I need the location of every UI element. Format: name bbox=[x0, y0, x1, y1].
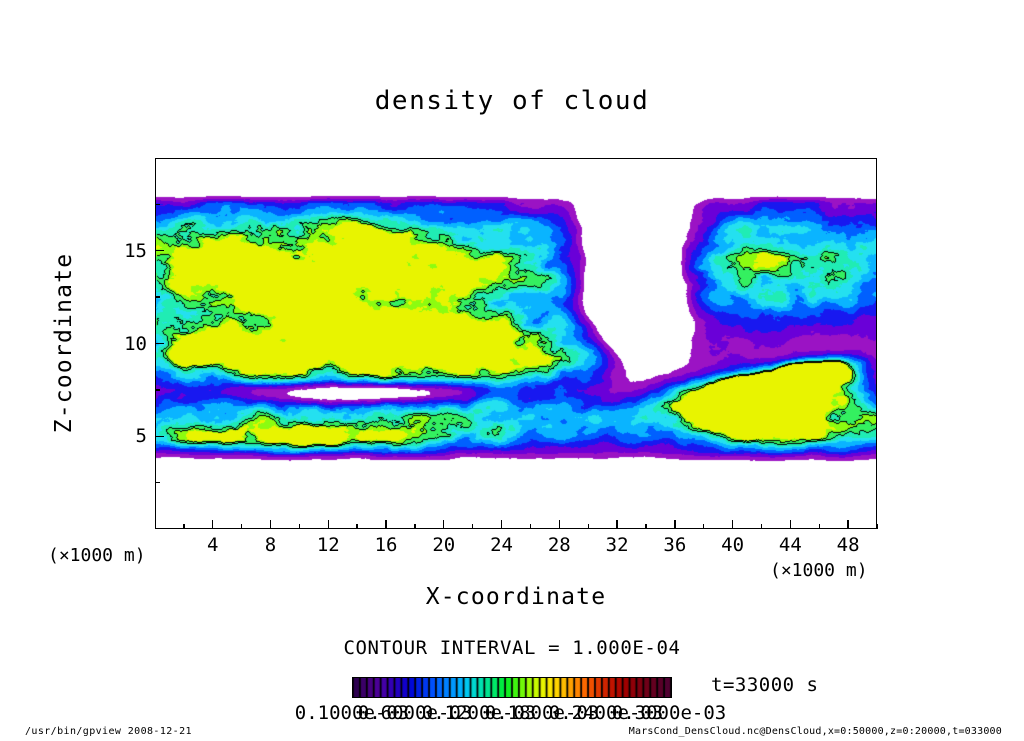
x-tick-mark bbox=[472, 524, 473, 529]
y-tick-label: 5 bbox=[119, 425, 147, 447]
x-tick-mark bbox=[299, 524, 300, 529]
x-tick-label: 48 bbox=[837, 534, 860, 556]
x-tick-mark bbox=[616, 520, 617, 529]
x-axis-title: X-coordinate bbox=[155, 584, 877, 610]
x-tick-label: 8 bbox=[265, 534, 276, 556]
colorbar-gradient bbox=[353, 678, 671, 697]
y-tick-label: 15 bbox=[119, 240, 147, 262]
x-tick-label: 44 bbox=[779, 534, 802, 556]
x-tick-mark bbox=[703, 524, 704, 529]
x-tick-label: 16 bbox=[375, 534, 398, 556]
x-tick-label: 32 bbox=[606, 534, 629, 556]
x-tick-mark bbox=[270, 520, 271, 529]
y-tick-mark bbox=[155, 343, 164, 344]
plot-area bbox=[155, 158, 877, 529]
x-tick-mark bbox=[761, 524, 762, 529]
x-tick-mark bbox=[501, 520, 502, 529]
y-tick-mark bbox=[155, 482, 160, 483]
x-tick-mark bbox=[183, 524, 184, 529]
x-tick-label: 20 bbox=[432, 534, 455, 556]
x-tick-mark bbox=[790, 520, 791, 529]
footer-command: /usr/bin/gpview 2008-12-21 bbox=[25, 726, 192, 737]
y-tick-mark bbox=[155, 250, 164, 251]
x-tick-mark bbox=[241, 524, 242, 529]
x-tick-mark bbox=[847, 520, 848, 529]
x-tick-mark bbox=[414, 524, 415, 529]
colorbar bbox=[352, 677, 672, 698]
colorbar-tick-label: 0.3000e-03 bbox=[612, 702, 726, 724]
y-tick-label: 10 bbox=[119, 333, 147, 355]
x-tick-mark bbox=[385, 520, 386, 529]
y-tick-mark bbox=[155, 204, 160, 205]
x-tick-label: 24 bbox=[490, 534, 513, 556]
x-tick-mark bbox=[212, 520, 213, 529]
colorbar-tick-labels: 0.1000e-030.6000e-030.1200e-030.1800e-03… bbox=[0, 702, 1024, 726]
x-tick-mark bbox=[328, 520, 329, 529]
y-axis-unit-label: (×1000 m) bbox=[48, 545, 146, 566]
time-label: t=33000 s bbox=[711, 674, 818, 696]
x-tick-mark bbox=[876, 524, 877, 529]
y-tick-mark bbox=[155, 436, 164, 437]
x-tick-label: 28 bbox=[548, 534, 571, 556]
page-title: density of cloud bbox=[0, 86, 1024, 116]
y-tick-mark bbox=[155, 296, 160, 297]
x-tick-label: 36 bbox=[663, 534, 686, 556]
x-tick-mark bbox=[443, 520, 444, 529]
x-tick-label: 12 bbox=[317, 534, 340, 556]
x-tick-mark bbox=[559, 520, 560, 529]
x-tick-mark bbox=[674, 520, 675, 529]
x-tick-mark bbox=[732, 520, 733, 529]
contour-plot-figure: density of cloud 48121620242832364044485… bbox=[0, 0, 1024, 741]
y-axis-title: Z-coordinate bbox=[51, 253, 77, 434]
contour-interval-label: CONTOUR INTERVAL = 1.000E-04 bbox=[0, 637, 1024, 659]
y-tick-mark bbox=[155, 389, 160, 390]
x-tick-mark bbox=[819, 524, 820, 529]
footer-dataset: MarsCond_DensCloud.nc@DensCloud,x=0:5000… bbox=[629, 726, 1002, 737]
x-tick-label: 4 bbox=[207, 534, 218, 556]
x-tick-mark bbox=[645, 524, 646, 529]
x-tick-mark bbox=[588, 524, 589, 529]
cloud-density-field bbox=[156, 159, 877, 529]
x-tick-mark bbox=[530, 524, 531, 529]
x-tick-mark bbox=[356, 524, 357, 529]
x-axis-unit-label: (×1000 m) bbox=[770, 560, 868, 581]
x-tick-label: 40 bbox=[721, 534, 744, 556]
